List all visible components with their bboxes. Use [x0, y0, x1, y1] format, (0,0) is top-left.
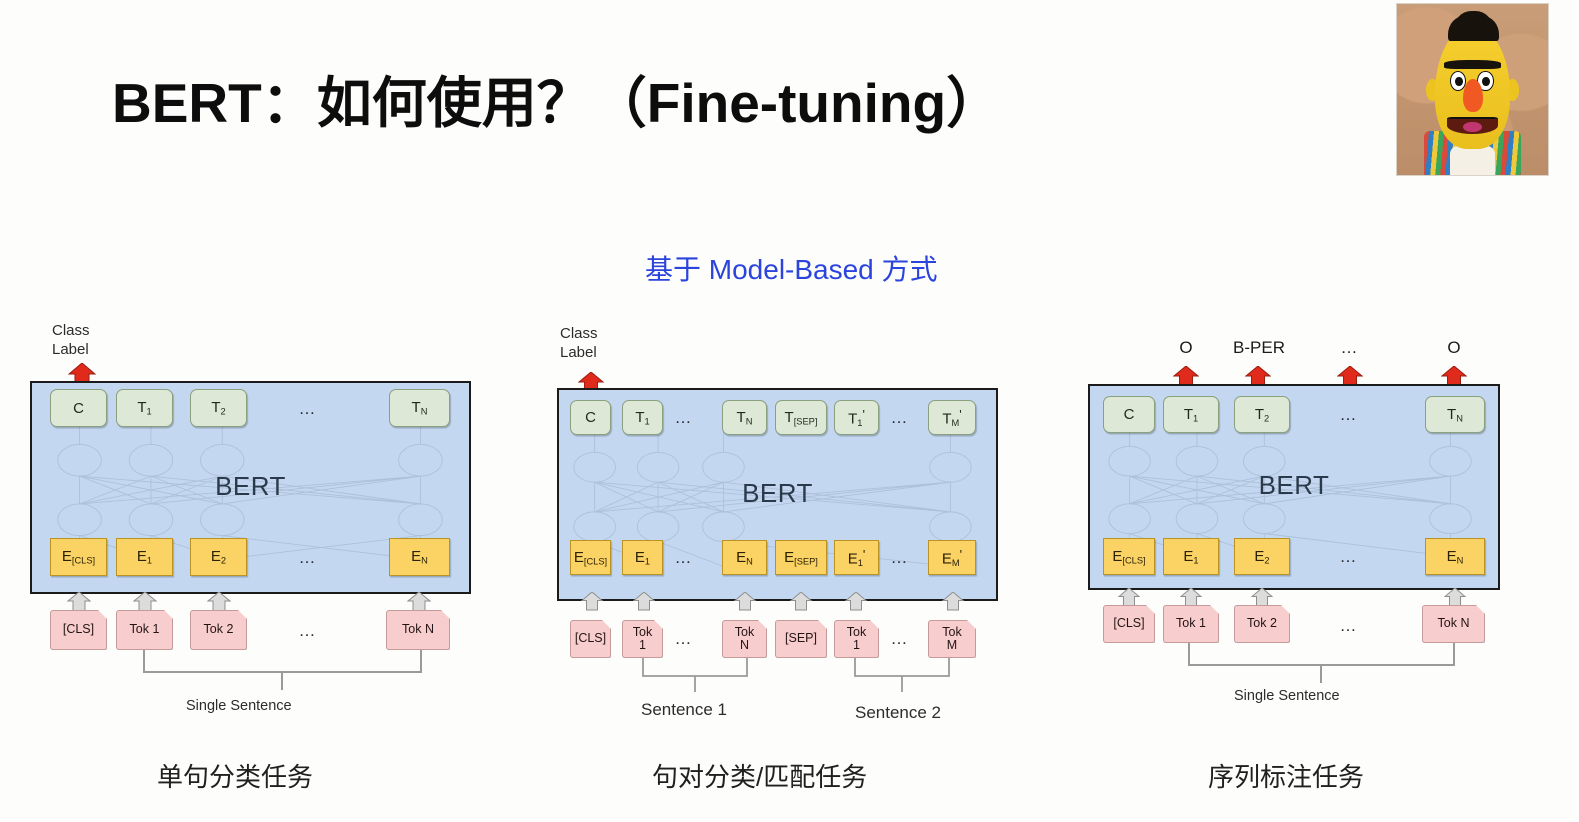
grey-up-arrow-icon	[1118, 588, 1140, 607]
token-box: Tok 2	[1234, 605, 1290, 643]
token-row-ellipsis: …	[290, 620, 326, 642]
t-box: T2	[1234, 396, 1290, 433]
sentence-bracket	[140, 650, 425, 692]
e-box-text: EN	[1447, 548, 1464, 566]
grey-up-arrow-icon	[790, 592, 812, 611]
class-label-line-1: Class	[560, 325, 598, 344]
group-label: Single Sentence	[1234, 688, 1340, 704]
t-box: C	[50, 389, 107, 427]
t-box-text: T1	[635, 409, 649, 427]
grey-up-arrow-icon	[734, 592, 756, 611]
t-box-text: TM'	[942, 407, 961, 428]
t-box-text: TN	[737, 409, 753, 427]
t-box-text: C	[585, 409, 596, 426]
t-box-text: TN	[412, 399, 428, 417]
t-box: TN	[389, 389, 450, 427]
token-box: TokN	[722, 620, 767, 658]
t-box: T1	[1163, 396, 1219, 433]
grey-up-arrow-icon	[133, 592, 157, 612]
t-box: C	[1103, 396, 1155, 433]
t-box-text: T1'	[848, 407, 865, 428]
e-box-text: E1	[1183, 548, 1198, 566]
t-box: TN	[722, 400, 767, 435]
t-box: T2	[190, 389, 247, 427]
output-tag-label: O	[1168, 338, 1204, 358]
class-label-annotation-2: Class Label	[560, 325, 598, 363]
token-row-ellipsis: …	[886, 629, 914, 649]
e-row-ellipsis: …	[1331, 546, 1367, 568]
t-box: C	[570, 400, 611, 435]
t-box: T1	[622, 400, 663, 435]
token-box: [SEP]	[775, 620, 827, 658]
sentence-bracket	[640, 658, 750, 694]
t-row-ellipsis: …	[1331, 404, 1367, 426]
token-box: Tok 2	[190, 610, 247, 650]
photo-pupil-right	[1482, 77, 1490, 87]
e-box: EM'	[928, 540, 976, 575]
output-tag-label: B-PER	[1222, 338, 1296, 358]
t-row-ellipsis: …	[886, 408, 914, 428]
e-box-text: E2	[211, 548, 226, 566]
t-row-ellipsis: …	[670, 408, 698, 428]
token-box: [CLS]	[50, 610, 107, 650]
class-label-line-2: Label	[52, 341, 90, 360]
e-box-text: EN	[736, 549, 753, 567]
class-label-line-2: Label	[560, 344, 598, 363]
output-tag-label: O	[1436, 338, 1472, 358]
bert-block-label-1: BERT	[32, 470, 469, 501]
panel-caption: 序列标注任务	[1208, 757, 1364, 794]
grey-up-arrow-icon	[67, 592, 91, 612]
grey-up-arrow-icon	[207, 592, 231, 612]
t-box: T1	[116, 389, 173, 427]
e-row-ellipsis: …	[886, 548, 914, 568]
e-box: E1'	[834, 540, 879, 575]
t-box: T1'	[834, 400, 879, 435]
sentence-bracket	[1186, 643, 1458, 685]
class-label-annotation-1: Class Label	[52, 322, 90, 360]
t-box: TN	[1425, 396, 1485, 433]
t-row-ellipsis: …	[290, 398, 326, 420]
t-box-text: TN	[1447, 406, 1463, 424]
t-box: TM'	[928, 400, 976, 435]
e-box: E1	[116, 538, 173, 576]
e-box-text: E2	[1254, 548, 1269, 566]
e-box: E[CLS]	[570, 540, 611, 575]
token-row-ellipsis: …	[670, 629, 698, 649]
t-box: T[SEP]	[775, 400, 827, 435]
token-box: Tok 1	[1163, 605, 1219, 643]
e-box-text: E[CLS]	[574, 549, 607, 567]
grey-up-arrow-icon	[581, 592, 603, 611]
e-box-text: E1	[137, 548, 152, 566]
e-box: E[SEP]	[775, 540, 827, 575]
e-box: E1	[622, 540, 663, 575]
t-box-text: C	[73, 400, 84, 417]
sentence-bracket	[852, 658, 952, 694]
e-box: EN	[1425, 538, 1485, 575]
bert-block-label-2: BERT	[559, 477, 996, 508]
panel-caption: 句对分类/匹配任务	[652, 757, 867, 794]
group-label: Sentence 2	[855, 703, 941, 723]
token-box: Tok1	[622, 620, 663, 658]
e-box-text: E[CLS]	[62, 548, 95, 566]
grey-up-arrow-icon	[1180, 588, 1202, 607]
e-box-text: E[SEP]	[784, 549, 818, 567]
token-box: [CLS]	[1103, 605, 1155, 643]
token-box: [CLS]	[570, 620, 611, 658]
token-row-ellipsis: …	[1331, 615, 1367, 637]
bert-muppet-photo	[1396, 3, 1549, 176]
t-box-text: T2	[211, 399, 225, 417]
e-row-ellipsis: …	[290, 547, 326, 569]
grey-up-arrow-icon	[407, 592, 431, 612]
output-tag-ellipsis: …	[1330, 338, 1368, 358]
t-box-text: T2	[1255, 406, 1269, 424]
subtitle: 基于 Model-Based 方式	[645, 248, 938, 288]
group-label: Single Sentence	[186, 698, 292, 714]
grey-up-arrow-icon	[845, 592, 867, 611]
t-box-text: T1	[1184, 406, 1198, 424]
e-box: EN	[722, 540, 767, 575]
photo-collar	[1450, 146, 1495, 175]
token-box: Tok 1	[116, 610, 173, 650]
t-box-text: C	[1124, 406, 1135, 423]
e-box-text: E1	[635, 549, 650, 567]
grey-up-arrow-icon	[1444, 588, 1466, 607]
token-box: Tok N	[1422, 605, 1485, 643]
slide-root: BERT：如何使用？（Fine-tuning） 基于 Model-Based 方…	[0, 0, 1579, 822]
t-box-text: T1	[137, 399, 151, 417]
e-box-text: EM'	[942, 547, 962, 568]
photo-nose	[1463, 79, 1483, 111]
group-label: Sentence 1	[641, 700, 727, 720]
token-box: Tok N	[386, 610, 450, 650]
panel-caption: 单句分类任务	[157, 757, 313, 794]
e-box-text: E[CLS]	[1112, 548, 1145, 566]
t-box-text: T[SEP]	[785, 409, 818, 427]
e-box: EN	[389, 538, 450, 576]
grey-up-arrow-icon	[942, 592, 964, 611]
e-row-ellipsis: …	[670, 548, 698, 568]
photo-tongue	[1463, 122, 1481, 132]
photo-eyebrow	[1444, 60, 1501, 69]
grey-up-arrow-icon	[633, 592, 655, 611]
token-box: Tok1	[834, 620, 879, 658]
bert-block-label-3: BERT	[1090, 470, 1498, 501]
e-box: E2	[190, 538, 247, 576]
e-box: E[CLS]	[1103, 538, 1155, 575]
photo-hair	[1453, 11, 1494, 40]
class-label-line-1: Class	[52, 322, 90, 341]
e-box-text: EN	[411, 548, 428, 566]
e-box: E[CLS]	[50, 538, 107, 576]
photo-pupil-left	[1455, 77, 1463, 87]
page-title: BERT：如何使用？（Fine-tuning）	[112, 58, 1001, 138]
token-box: TokM	[928, 620, 976, 658]
e-box: E2	[1234, 538, 1290, 575]
e-box: E1	[1163, 538, 1219, 575]
grey-up-arrow-icon	[1251, 588, 1273, 607]
e-box-text: E1'	[848, 547, 866, 568]
